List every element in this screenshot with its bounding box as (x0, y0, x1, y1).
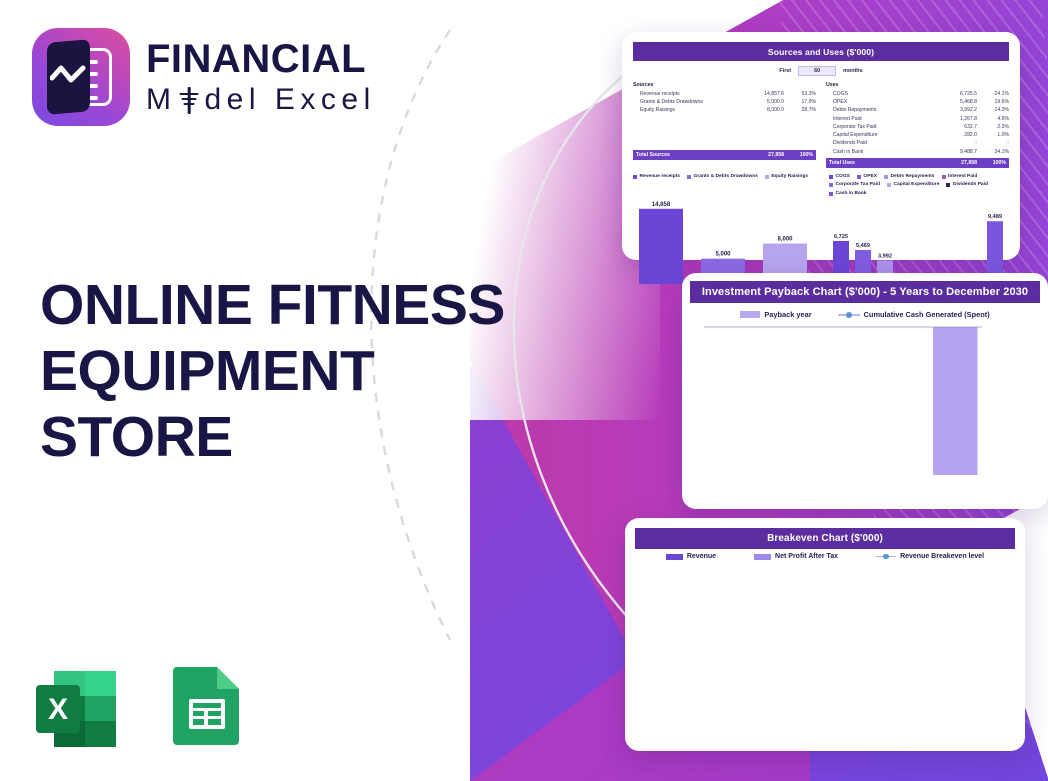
legend-item: COGS (829, 173, 850, 181)
table-row: Revenue receipts 14,857.6 53.3% (633, 90, 816, 98)
row-value: - (935, 139, 977, 147)
legend-label: Grants & Debts Drawdowns (694, 173, 758, 181)
total-value: 27,858 (742, 152, 784, 158)
file-format-icons: X (32, 663, 243, 755)
sources-and-uses-card: Sources and Uses ($'000) First 60 months… (622, 32, 1020, 260)
row-pct: 24.1% (977, 90, 1009, 98)
legend-item: Equity Raisings (765, 173, 808, 181)
bar-label: 8,000 (777, 237, 793, 243)
table-row: Capital Expenditure 282.0 1.0% (826, 131, 1009, 139)
sources-header: Sources (633, 82, 816, 88)
legend-swatch (666, 554, 683, 560)
legend-item-payback-year: Payback year (740, 310, 811, 319)
legend-line-marker (876, 556, 896, 558)
legend-label: Cash in Bank (836, 190, 867, 198)
legend-item: Debts Repayments (884, 173, 935, 181)
legend-item: Corporate Tax Paid (829, 181, 880, 189)
uses-total-row: Total Uses 27,858 100% (826, 158, 1009, 168)
bar-label: 3,992 (878, 253, 892, 259)
svg-text:X: X (48, 693, 68, 726)
breakeven-bar-chart (635, 560, 1015, 735)
sources-total-row: Total Sources 27,858 100% (633, 150, 816, 160)
bar-label: 6,725 (834, 234, 848, 240)
payback-year-band (933, 327, 977, 475)
legend-swatch (884, 175, 888, 179)
sources-column: Sources Revenue receipts 14,857.6 53.3% … (633, 82, 816, 168)
row-pct: 28.7% (784, 106, 816, 114)
total-value: 27,858 (935, 160, 977, 166)
legend-item: Grants & Debts Drawdowns (687, 173, 758, 181)
legend-item-cumulative-cash: Cumulative Cash Generated (Spent) (838, 310, 990, 319)
sources-uses-table: Sources Revenue receipts 14,857.6 53.3% … (633, 82, 1009, 168)
sources-spacer (633, 115, 816, 148)
brand-logo: FINANCIAL M del Excel (32, 28, 376, 126)
legend-swatch (857, 175, 861, 179)
period-selector-row: First 60 months (633, 66, 1009, 76)
legend-label: Cumulative Cash Generated (Spent) (864, 310, 990, 319)
legend-item: Cash in Bank (829, 190, 866, 198)
slide-canvas: FINANCIAL M del Excel ONLINE FITNESS EQU… (0, 0, 1048, 781)
table-row: Grants & Debts Drawdowns 5,000.0 17.9% (633, 98, 816, 106)
legend-item-breakeven-level: Revenue Breakeven level (876, 553, 984, 560)
page-title-line2: EQUIPMENT (40, 338, 560, 404)
legend-swatch (687, 175, 691, 179)
stacked-bars-o-glyph-icon (178, 87, 201, 114)
legend-item-npat: Net Profit After Tax (754, 553, 838, 560)
row-pct: 14.3% (977, 106, 1009, 114)
app-logo-icon (32, 28, 130, 126)
legend-swatch (829, 183, 833, 187)
legend-item: Interest Paid (942, 173, 978, 181)
legend-swatch (829, 175, 833, 179)
row-name: Capital Expenditure (826, 131, 935, 139)
brand-name-line2-post: del Excel (205, 85, 376, 115)
legend-swatch (887, 183, 891, 187)
row-pct: 19.6% (977, 98, 1009, 106)
legend-swatch (942, 175, 946, 179)
row-name: Equity Raisings (633, 106, 742, 114)
row-pct: 17.9% (784, 98, 816, 106)
row-name: Corporate Tax Paid (826, 123, 935, 131)
page-title-line1: ONLINE FITNESS (40, 272, 560, 338)
total-label: Total Sources (633, 152, 742, 158)
microsoft-excel-icon[interactable]: X (32, 663, 124, 755)
breakeven-legend: Revenue Net Profit After Tax Revenue Bre… (635, 553, 1015, 560)
legend-item: Revenue receipts (633, 173, 680, 181)
table-row: Interest Paid 1,267.8 4.6% (826, 115, 1009, 123)
period-prefix-label: First (779, 68, 791, 74)
breakeven-card: Breakeven Chart ($'000) Revenue Net Prof… (625, 518, 1025, 751)
table-row: Corporate Tax Paid 632.7 2.3% (826, 123, 1009, 131)
legend-label: Interest Paid (948, 173, 977, 181)
legend-line-marker (838, 314, 860, 316)
row-value: 632.7 (935, 123, 977, 131)
bar-label: 5,469 (856, 243, 870, 249)
legend-swatch (946, 183, 950, 187)
row-pct: 53.3% (784, 90, 816, 98)
sources-rows: Revenue receipts 14,857.6 53.3% Grants &… (633, 90, 816, 115)
row-name: Debts Repayments (826, 106, 935, 114)
row-name: Interest Paid (826, 115, 935, 123)
table-row: Dividends Paid - - (826, 139, 1009, 147)
row-name: Grants & Debts Drawdowns (633, 98, 742, 106)
page-title: ONLINE FITNESS EQUIPMENT STORE (40, 272, 560, 470)
row-value: 3,992.2 (935, 106, 977, 114)
row-pct: 1.0% (977, 131, 1009, 139)
row-value: 5,000.0 (742, 98, 784, 106)
payback-line-chart (690, 319, 1040, 511)
row-name: Cash in Bank (826, 148, 935, 156)
legend-label: Revenue receipts (640, 173, 681, 181)
sources-uses-title: Sources and Uses ($'000) (633, 42, 1009, 61)
brand-name-line2-pre: M (146, 85, 177, 115)
table-row: COGS 6,725.5 24.1% (826, 90, 1009, 98)
table-row: Equity Raisings 8,000.0 28.7% (633, 106, 816, 114)
row-name: Revenue receipts (633, 90, 742, 98)
legend-swatch (740, 311, 760, 318)
legend-label: Payback year (764, 310, 811, 319)
legend-item: OPEX (857, 173, 877, 181)
row-value: 8,000.0 (742, 106, 784, 114)
row-value: 6,725.5 (935, 90, 977, 98)
brand-name-line1: FINANCIAL (146, 39, 376, 79)
legend-swatch (765, 175, 769, 179)
breakeven-title: Breakeven Chart ($'000) (635, 528, 1015, 549)
legend-label: Revenue Breakeven level (900, 553, 984, 560)
legend-label: Corporate Tax Paid (836, 181, 880, 189)
payback-title: Investment Payback Chart ($'000) - 5 Yea… (690, 281, 1040, 303)
row-value: 1,267.8 (935, 115, 977, 123)
legend-label: Equity Raisings (771, 173, 808, 181)
row-name: OPEX (826, 98, 935, 106)
zigzag-chart-icon (50, 65, 90, 85)
total-pct: 100% (977, 160, 1009, 166)
row-value: 14,857.6 (742, 90, 784, 98)
table-row: OPEX 5,468.8 19.6% (826, 98, 1009, 106)
legend-swatch (829, 192, 833, 196)
legend-label: Debts Repayments (891, 173, 935, 181)
bar (639, 209, 683, 284)
row-pct: - (977, 139, 1009, 147)
legend-swatch (754, 554, 771, 560)
total-label: Total Uses (826, 160, 935, 166)
total-pct: 100% (784, 152, 816, 158)
uses-column: Uses COGS 6,725.5 24.1% OPEX 5,468.8 19.… (826, 82, 1009, 168)
legend-item: Dividends Paid (946, 181, 988, 189)
row-pct: 34.1% (977, 148, 1009, 156)
legend-label: Dividends Paid (953, 181, 988, 189)
uses-header: Uses (826, 82, 1009, 88)
row-name: COGS (826, 90, 935, 98)
legend-item: Capital Expenditure (887, 181, 939, 189)
sources-bar-chart: 14,8585,0008,000 (633, 181, 819, 286)
brand-name-line2: M del Excel (146, 85, 376, 115)
row-pct: 2.3% (977, 123, 1009, 131)
bar-label: 5,000 (715, 252, 731, 258)
row-pct: 4.6% (977, 115, 1009, 123)
legend-swatch (633, 175, 637, 179)
bar-label: 14,858 (652, 202, 671, 208)
row-name: Dividends Paid (826, 139, 935, 147)
legend-label: COGS (836, 173, 850, 181)
legend-label: Revenue (687, 553, 716, 560)
table-row: Debts Repayments 3,992.2 14.3% (826, 106, 1009, 114)
bar-label: 9,489 (988, 214, 1002, 220)
table-row: Cash in Bank 9,488.7 34.1% (826, 148, 1009, 156)
investment-payback-card: Investment Payback Chart ($'000) - 5 Yea… (682, 273, 1048, 509)
row-value: 9,488.7 (935, 148, 977, 156)
legend-item-revenue: Revenue (666, 553, 716, 560)
page-title-line3: STORE (40, 404, 560, 470)
legend-label: Net Profit After Tax (775, 553, 838, 560)
google-sheets-icon[interactable] (171, 663, 243, 749)
uses-chart-legend: COGSOPEXDebts RepaymentsInterest PaidCor… (829, 173, 1015, 198)
row-value: 282.0 (935, 131, 977, 139)
months-input[interactable]: 60 (798, 66, 836, 76)
legend-label: Capital Expenditure (893, 181, 939, 189)
legend-label: OPEX (863, 173, 877, 181)
period-suffix-label: months (843, 68, 862, 74)
payback-legend: Payback year Cumulative Cash Generated (… (690, 310, 1040, 319)
sources-chart-legend: Revenue receiptsGrants & Debts Drawdowns… (633, 173, 819, 181)
uses-rows: COGS 6,725.5 24.1% OPEX 5,468.8 19.6% De… (826, 90, 1009, 156)
row-value: 5,468.8 (935, 98, 977, 106)
